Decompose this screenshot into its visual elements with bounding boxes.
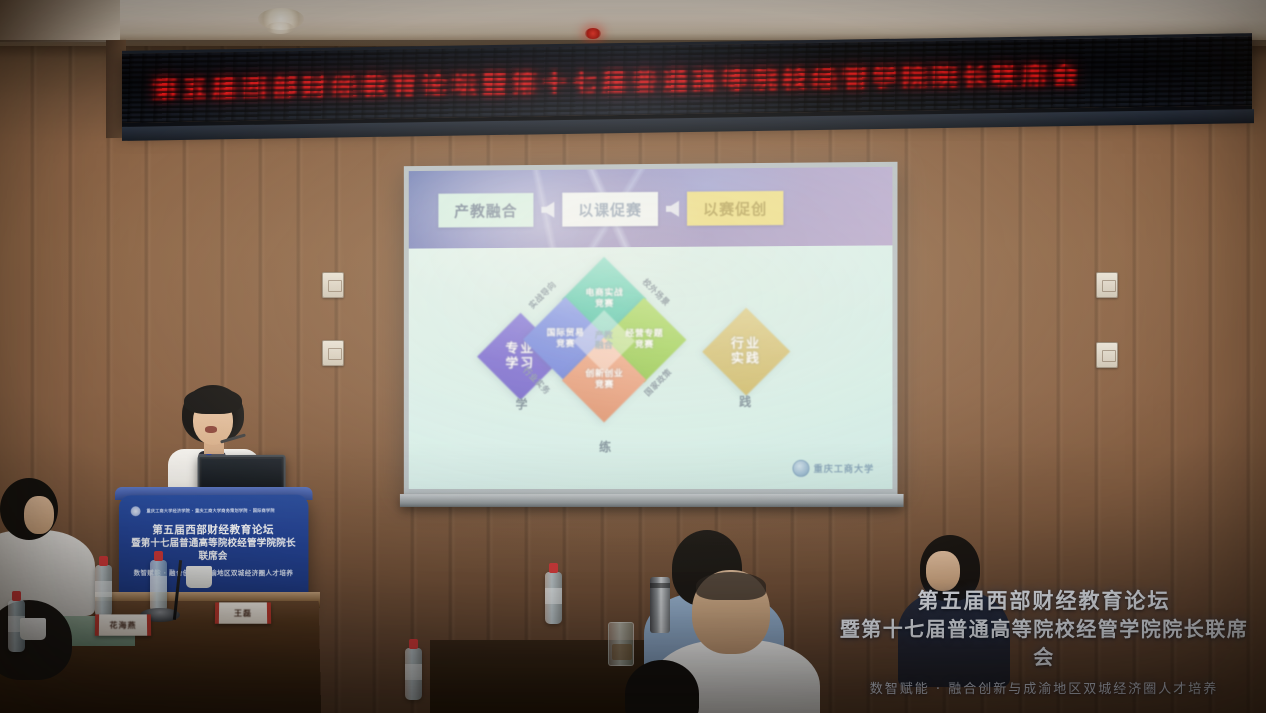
attendee-face — [926, 551, 960, 591]
podium-title-line1: 第五届西部财经教育论坛 — [129, 523, 299, 538]
wall-socket — [322, 272, 344, 298]
thermos-flask — [650, 577, 670, 633]
presenter-mouth — [205, 426, 217, 433]
podium-logo-row: 重庆工商大学经济学院 · 重庆工商大学商务策划学院 · 国际商学院 — [131, 505, 297, 518]
placard-name: 王磊 — [234, 608, 252, 619]
presenter-laptop — [198, 455, 286, 491]
podium-org-line: 重庆工商大学经济学院 · 重庆工商大学商务策划学院 · 国际商学院 — [147, 508, 275, 514]
led-banner-text: 第五届西部财经教育论坛暨第十七届普通高等院校经管学院院长联席会 — [152, 54, 1242, 104]
water-bottle — [150, 560, 167, 612]
projection-screen: 产教融合 以课促赛 以赛促创 专业 学习 行业 实践 电商实战 竞赛 国际贸易 — [404, 162, 898, 494]
wall-socket — [1096, 342, 1118, 368]
ceiling-downlight-inner — [266, 22, 294, 34]
projection-screen-tray — [400, 494, 904, 507]
attendee-face — [24, 496, 54, 534]
wall-socket — [322, 340, 344, 366]
conference-photo-scene: 第五届西部财经教育论坛暨第十七届普通高等院校经管学院院长联席会 产教融合 以课促… — [0, 0, 1266, 713]
water-bottle — [95, 565, 112, 617]
projected-slide: 产教融合 以课促赛 以赛促创 专业 学习 行业 实践 电商实战 竞赛 国际贸易 — [409, 167, 893, 489]
name-placard: 王磊 — [215, 602, 271, 623]
axis-label-lian: 练 — [599, 438, 611, 455]
diamond-core-label: 产教 融合 — [595, 331, 613, 352]
wall-socket — [1096, 272, 1118, 298]
presenter-hair-fringe — [184, 388, 242, 414]
podium-seal-icon — [131, 506, 141, 516]
led-shear-artifact — [122, 36, 1252, 123]
led-scanline-artifact — [122, 36, 1252, 123]
tea-cup — [608, 622, 634, 666]
axis-label-xue: 学 — [516, 395, 528, 412]
diamond-label: 创新创业 竞赛 — [585, 369, 623, 390]
university-name: 重庆工商大学 — [814, 462, 875, 475]
university-seal-icon — [792, 460, 809, 477]
attendee-shoulders — [898, 591, 1010, 687]
diamond-label: 电商实战 竞赛 — [585, 289, 623, 310]
red-indicator-light — [585, 28, 601, 39]
name-placard: 花海燕 — [95, 614, 151, 635]
axis-label-jian: 践 — [739, 393, 751, 410]
water-bottle — [405, 648, 422, 700]
diamond-label: 行业 实践 — [731, 336, 761, 367]
placard-name: 花海燕 — [109, 620, 136, 631]
left-arrow-icon — [666, 201, 679, 217]
paper-cup — [186, 566, 212, 588]
diamond-diagram: 专业 学习 行业 实践 电商实战 竞赛 国际贸易 竞赛 经营专题 竞赛 创新创业… — [409, 245, 893, 489]
left-arrow-icon — [541, 202, 554, 218]
flow-box-yisaicuchuang: 以赛促创 — [687, 191, 783, 226]
water-bottle — [545, 572, 562, 624]
flow-box-yikecusai: 以课促赛 — [562, 192, 658, 227]
slide-university-logo: 重庆工商大学 — [792, 460, 874, 477]
slide-flow-row: 产教融合 以课促赛 以赛促创 — [438, 187, 868, 230]
attendee-hair — [696, 572, 766, 600]
laptop-screen — [201, 459, 281, 487]
ceiling-corner-pocket — [0, 0, 120, 42]
flow-box-chanjiaoronghe: 产教融合 — [438, 193, 533, 228]
diamond-industry-practice: 行业 实践 — [702, 308, 790, 396]
paper-cup — [20, 618, 46, 640]
diagonal-label-upper-left: 实战导向 — [527, 279, 559, 311]
